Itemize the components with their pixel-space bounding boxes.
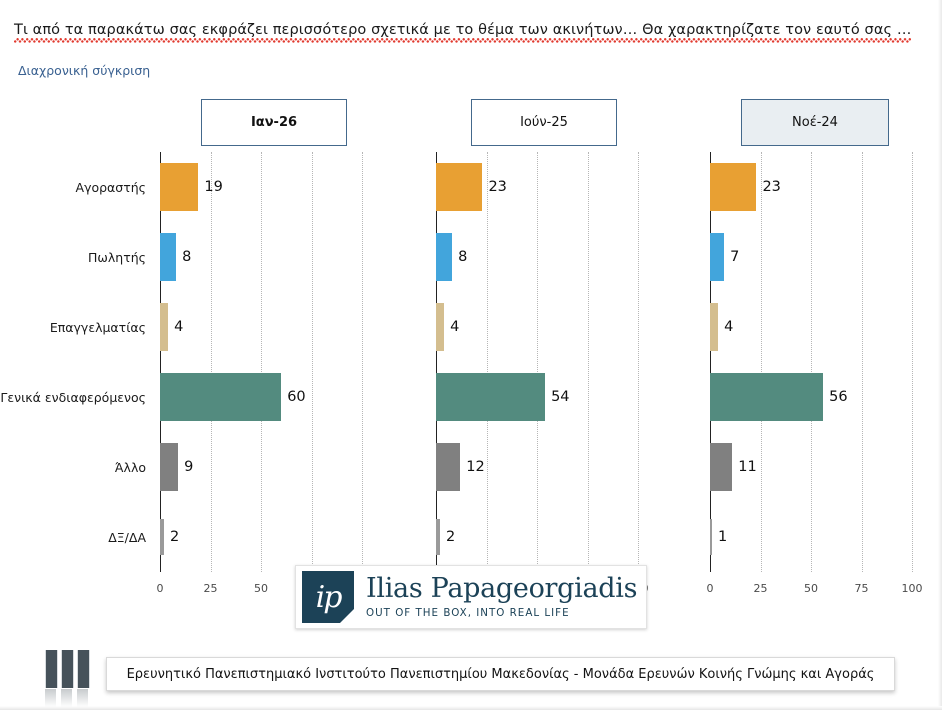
bar-value-label: 7 [730, 249, 739, 265]
bar-value-label: 4 [724, 319, 733, 335]
axis-tick-label: 75 [855, 582, 869, 595]
bar[interactable] [160, 233, 176, 281]
bar-row: 1 [710, 502, 727, 572]
bar-value-label: 60 [287, 389, 305, 405]
bar-value-label: 9 [184, 459, 193, 475]
footer-bars-icon [45, 650, 95, 690]
axis-tick-label: 0 [707, 582, 714, 595]
bar-value-label: 23 [488, 179, 506, 195]
bar-row: 7 [710, 222, 739, 292]
bar-value-label: 54 [551, 389, 569, 405]
category-label: Αγοραστής [0, 152, 150, 222]
page-title-text: Τι από τα παρακάτω σας εκφράζει περισσότ… [14, 22, 911, 43]
bar[interactable] [160, 163, 198, 211]
chart-panel-3: 237456111 [710, 152, 912, 572]
page-edge-bottom [0, 706, 942, 710]
bar-value-label: 12 [466, 459, 484, 475]
gridline [862, 152, 863, 572]
logo-tagline: OUT OF THE BOX, INTO REAL LIFE [366, 607, 637, 619]
gridline [912, 152, 913, 572]
bar-value-label: 8 [182, 249, 191, 265]
panel-header-1[interactable]: Ιαν-26 [201, 99, 347, 146]
category-label: Γενικά ενδιαφερόμενος [0, 362, 150, 432]
axis-tick-label: 0 [157, 582, 164, 595]
bar[interactable] [710, 373, 823, 421]
bar-value-label: 11 [738, 459, 756, 475]
axis-tick-label: 25 [754, 582, 768, 595]
bar[interactable] [710, 519, 712, 555]
bar-row: 4 [710, 292, 733, 362]
bar-row: 2 [160, 502, 179, 572]
bar-row: 54 [436, 362, 570, 432]
bar[interactable] [710, 163, 756, 211]
bar-row: 8 [160, 222, 191, 292]
bar-value-label: 1 [718, 529, 727, 545]
category-label-column: ΑγοραστήςΠωλητήςΕπαγγελματίαςΓενικά ενδι… [0, 152, 150, 572]
axis-tick-labels: 0255075100 [710, 582, 912, 600]
bar[interactable] [436, 303, 444, 351]
bar-value-label: 4 [450, 319, 459, 335]
bar[interactable] [710, 303, 718, 351]
axis-tick-label: 100 [902, 582, 923, 595]
brand-logo: ip Ilias Papageorgiadis OUT OF THE BOX, … [295, 565, 647, 629]
bar[interactable] [436, 443, 460, 491]
bar[interactable] [436, 233, 452, 281]
logo-mark-letter: ip [302, 571, 354, 623]
bar-row: 9 [160, 432, 193, 502]
bar-row: 56 [710, 362, 848, 432]
bar-row: 4 [436, 292, 459, 362]
bar-row: 23 [710, 152, 781, 222]
category-label: ΔΞ/ΔΑ [0, 502, 150, 572]
gridline [588, 152, 589, 572]
bar-value-label: 19 [204, 179, 222, 195]
bar-row: 2 [436, 502, 455, 572]
footer-institution-bar: Ερευνητικό Πανεπιστημιακό Ινστιτούτο Παν… [106, 657, 895, 691]
gridline [362, 152, 363, 572]
logo-name: Ilias Papageorgiadis [366, 575, 637, 602]
subtitle-link[interactable]: Διαχρονική σύγκριση [18, 63, 150, 78]
bar[interactable] [436, 519, 440, 555]
bar-row: 4 [160, 292, 183, 362]
panel-header-2[interactable]: Ιούν-25 [471, 99, 617, 146]
logo-text: Ilias Papageorgiadis OUT OF THE BOX, INT… [366, 575, 637, 619]
plot-area: 238454122 [436, 152, 638, 572]
bar-value-label: 23 [762, 179, 780, 195]
bar-value-label: 8 [458, 249, 467, 265]
bar-value-label: 4 [174, 319, 183, 335]
chart-panel-2: 238454122 [436, 152, 638, 572]
panel-header-3[interactable]: Νοέ-24 [741, 99, 889, 146]
plot-area: 19846092 [160, 152, 362, 572]
category-label: Πωλητής [0, 222, 150, 292]
bar[interactable] [710, 443, 732, 491]
bar-value-label: 2 [170, 529, 179, 545]
category-label: Άλλο [0, 432, 150, 502]
page-edge-right [938, 0, 942, 710]
gridline [638, 152, 639, 572]
bar-row: 11 [710, 432, 757, 502]
bar-value-label: 56 [829, 389, 847, 405]
gridline [312, 152, 313, 572]
bar[interactable] [436, 373, 545, 421]
axis-tick-label: 50 [254, 582, 268, 595]
bar-row: 60 [160, 362, 306, 432]
bar[interactable] [710, 233, 724, 281]
axis-tick-label: 25 [204, 582, 218, 595]
bar-row: 23 [436, 152, 507, 222]
page-title: Τι από τα παρακάτω σας εκφράζει περισσότ… [14, 22, 924, 38]
category-label: Επαγγελματίας [0, 292, 150, 362]
bar-row: 12 [436, 432, 485, 502]
logo-mark-icon: ip [302, 571, 354, 623]
bar-row: 8 [436, 222, 467, 292]
bar-value-label: 2 [446, 529, 455, 545]
bar[interactable] [160, 303, 168, 351]
chart-panel-1: 19846092 [160, 152, 362, 572]
bar[interactable] [160, 519, 164, 555]
bar[interactable] [436, 163, 482, 211]
axis-tick-label: 50 [804, 582, 818, 595]
bar-row: 19 [160, 152, 223, 222]
footer-institution-text: Ερευνητικό Πανεπιστημιακό Ινστιτούτο Παν… [127, 667, 875, 682]
bar[interactable] [160, 443, 178, 491]
bar[interactable] [160, 373, 281, 421]
plot-area: 237456111 [710, 152, 912, 572]
